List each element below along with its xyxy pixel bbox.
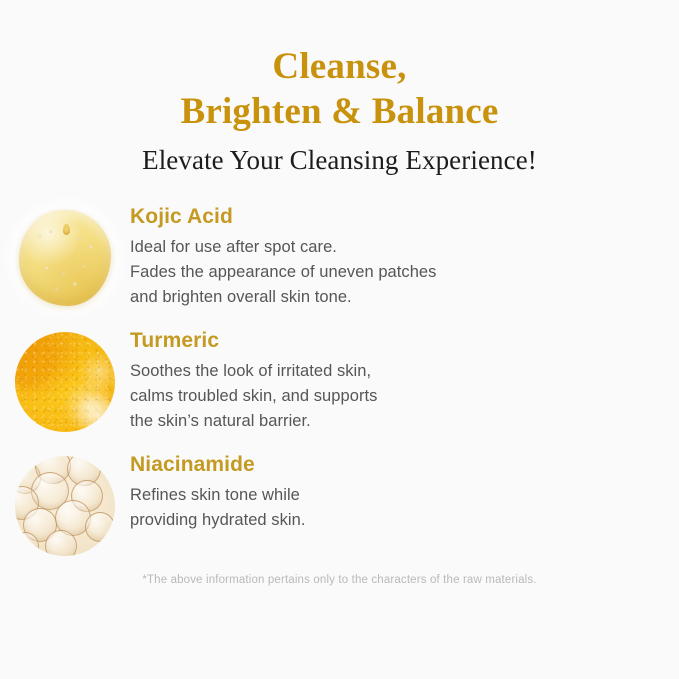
gel-bubble	[45, 266, 49, 270]
niacinamide-bubbles-image	[15, 456, 115, 556]
description-line: Refines skin tone while	[130, 483, 305, 508]
ingredient-title: Niacinamide	[130, 452, 305, 478]
gel-droplet-highlight	[63, 224, 70, 235]
list-item: Niacinamide Refines skin tone while prov…	[0, 450, 679, 556]
kojic-acid-text: Kojic Acid Ideal for use after spot care…	[130, 202, 436, 310]
ingredient-description: Ideal for use after spot care. Fades the…	[130, 235, 436, 310]
page-subtitle: Elevate Your Cleansing Experience!	[0, 144, 679, 176]
turmeric-text: Turmeric Soothes the look of irritated s…	[130, 326, 377, 434]
niacinamide-thumb-wrap	[0, 450, 130, 556]
list-item: Turmeric Soothes the look of irritated s…	[0, 326, 679, 434]
description-line: the skin’s natural barrier.	[130, 409, 377, 434]
headline-line-2: Brighten & Balance	[0, 89, 679, 134]
turmeric-powder-image	[15, 332, 115, 432]
description-line: Fades the appearance of uneven patches	[130, 260, 436, 285]
headline-line-1: Cleanse,	[0, 44, 679, 89]
ingredient-list: Kojic Acid Ideal for use after spot care…	[0, 202, 679, 556]
ingredient-description: Soothes the look of irritated skin, calm…	[130, 359, 377, 434]
bubble	[45, 530, 77, 556]
description-line: calms troubled skin, and supports	[130, 384, 377, 409]
gel-bubble	[78, 237, 81, 240]
gel-bubble	[62, 272, 65, 275]
gel-bubble	[89, 245, 93, 249]
description-line: and brighten overall skin tone.	[130, 285, 436, 310]
description-line: Ideal for use after spot care.	[130, 235, 436, 260]
footnote: *The above information pertains only to …	[0, 572, 679, 588]
gel-bubble	[55, 288, 58, 291]
kojic-acid-thumb-wrap	[0, 202, 130, 308]
description-line: Soothes the look of irritated skin,	[130, 359, 377, 384]
description-line: providing hydrated skin.	[130, 508, 305, 533]
ingredient-description: Refines skin tone while providing hydrat…	[130, 483, 305, 533]
ingredient-title: Kojic Acid	[130, 204, 436, 230]
turmeric-light-region	[73, 394, 113, 428]
kojic-acid-gel-droplet-image	[15, 208, 115, 308]
gel-bubble	[49, 230, 52, 233]
list-item: Kojic Acid Ideal for use after spot care…	[0, 202, 679, 310]
bubble	[85, 512, 115, 542]
niacinamide-text: Niacinamide Refines skin tone while prov…	[130, 450, 305, 533]
page-title: Cleanse, Brighten & Balance	[0, 44, 679, 134]
infographic-page: Cleanse, Brighten & Balance Elevate Your…	[0, 0, 679, 679]
gel-bubble	[73, 282, 77, 286]
gel-bubble	[37, 234, 41, 238]
gel-bubble	[83, 265, 86, 268]
ingredient-title: Turmeric	[130, 328, 377, 354]
header: Cleanse, Brighten & Balance Elevate Your…	[0, 0, 679, 176]
turmeric-thumb-wrap	[0, 326, 130, 432]
